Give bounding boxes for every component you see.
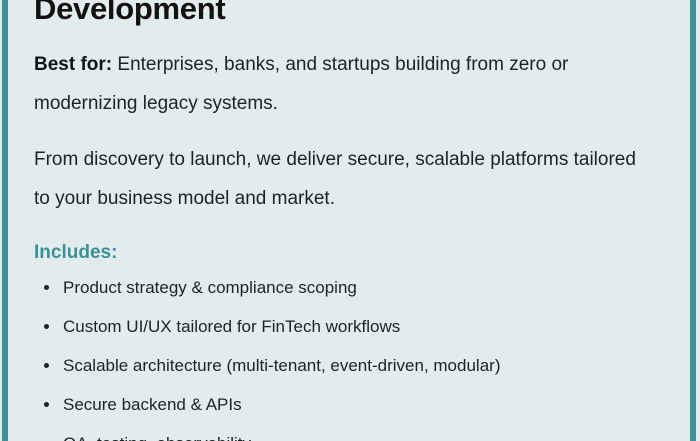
right-accent-rule [690, 0, 696, 441]
bullet-icon [44, 285, 49, 290]
card-content: Development Best for: Enterprises, banks… [34, 0, 646, 441]
bullet-icon [44, 363, 49, 368]
list-item-label: Secure backend & APIs [63, 395, 242, 414]
list-item: Secure backend & APIs [34, 395, 646, 414]
summary-paragraph: From discovery to launch, we deliver sec… [34, 140, 646, 218]
list-item: QA, testing, observability [34, 434, 646, 441]
list-item: Product strategy & compliance scoping [34, 278, 646, 297]
list-item: Scalable architecture (multi-tenant, eve… [34, 356, 646, 375]
bullet-icon [44, 402, 49, 407]
best-for-label: Best for: [34, 54, 112, 75]
page-title: Development [34, 0, 646, 30]
best-for-paragraph: Best for: Enterprises, banks, and startu… [34, 45, 646, 123]
list-item-label: QA, testing, observability [63, 434, 251, 441]
best-for-text: Enterprises, banks, and startups buildin… [34, 54, 568, 114]
left-accent-rule [2, 0, 8, 441]
service-card: Development Best for: Enterprises, banks… [0, 0, 700, 441]
includes-list: Product strategy & compliance scoping Cu… [34, 278, 646, 441]
includes-heading: Includes: [34, 239, 646, 267]
list-item-label: Custom UI/UX tailored for FinTech workfl… [63, 317, 400, 336]
list-item-label: Product strategy & compliance scoping [63, 278, 357, 297]
bullet-icon [44, 324, 49, 329]
list-item: Custom UI/UX tailored for FinTech workfl… [34, 317, 646, 336]
list-item-label: Scalable architecture (multi-tenant, eve… [63, 356, 500, 375]
